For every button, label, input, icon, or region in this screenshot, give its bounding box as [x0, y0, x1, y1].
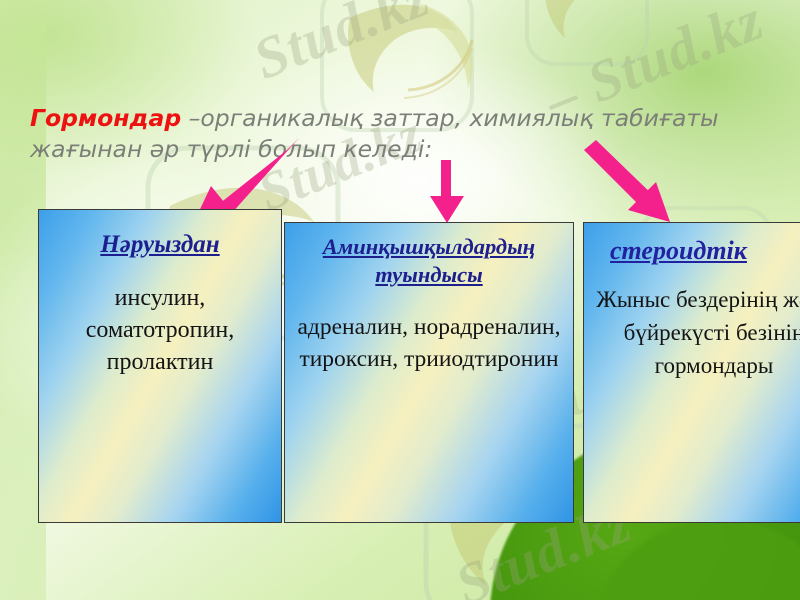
category-card-steroid[interactable]: стероидтік Жыныс бездерінің және бүйрекү…	[583, 222, 800, 523]
category-card-protein[interactable]: Нәруыздан инсулин, соматотропин, пролакт…	[38, 209, 282, 523]
category-card-body: инсулин, соматотропин, пролактин	[39, 282, 281, 378]
slide-canvas: Stud.kz – Stud.kz Stud.kz Stud.kz Stud.k…	[0, 0, 800, 600]
category-card-title: Нәруыздан	[39, 230, 281, 260]
arrow-to-box2-icon	[428, 160, 468, 224]
category-card-amino-acid[interactable]: Аминқышқылдардың туындысы адреналин, нор…	[284, 222, 574, 523]
page-title-highlight: Гормондар	[30, 104, 181, 132]
category-card-title: Аминқышқылдардың туындысы	[285, 233, 573, 289]
arrow-to-box3-icon	[582, 148, 692, 226]
category-card-title: стероидтік	[584, 233, 800, 269]
category-card-body: адреналин, норадреналин, тироксин, триио…	[285, 311, 573, 375]
category-card-body: Жыныс бездерінің және бүйрекүсті безінің…	[584, 283, 800, 382]
